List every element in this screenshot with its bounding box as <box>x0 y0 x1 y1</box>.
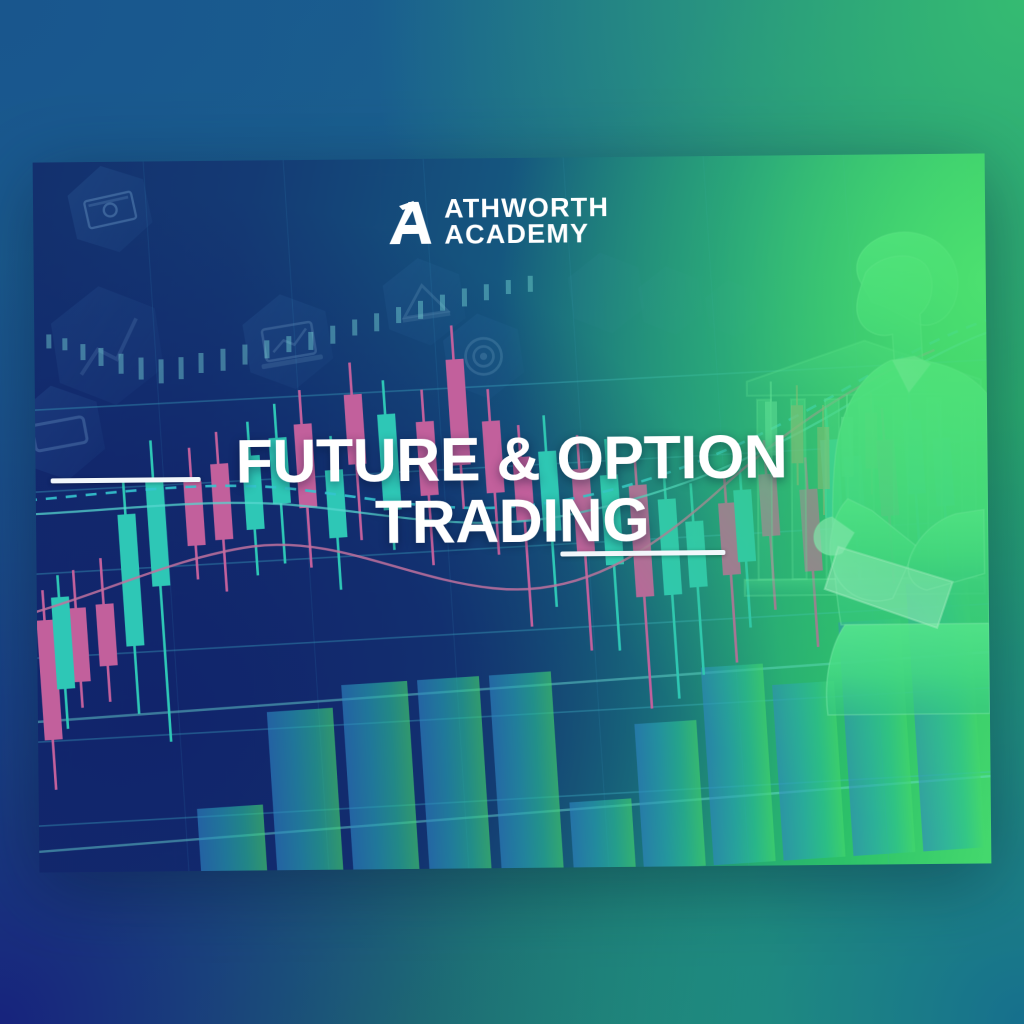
banner-canvas: ATHWORTH ACADEMY FUTURE & OPTION TRADING <box>0 0 1024 1024</box>
banner-card: ATHWORTH ACADEMY FUTURE & OPTION TRADING <box>33 153 992 872</box>
banner-card-wrapper: ATHWORTH ACADEMY FUTURE & OPTION TRADING <box>33 153 992 872</box>
title-line-2: TRADING <box>36 486 989 557</box>
athworth-a-mark-icon <box>388 200 432 246</box>
brand-logo[interactable]: ATHWORTH ACADEMY <box>388 195 610 249</box>
logo-line-2: ACADEMY <box>444 221 609 248</box>
title-line-1: FUTURE & OPTION <box>35 423 988 494</box>
page-title: FUTURE & OPTION TRADING <box>35 423 988 557</box>
